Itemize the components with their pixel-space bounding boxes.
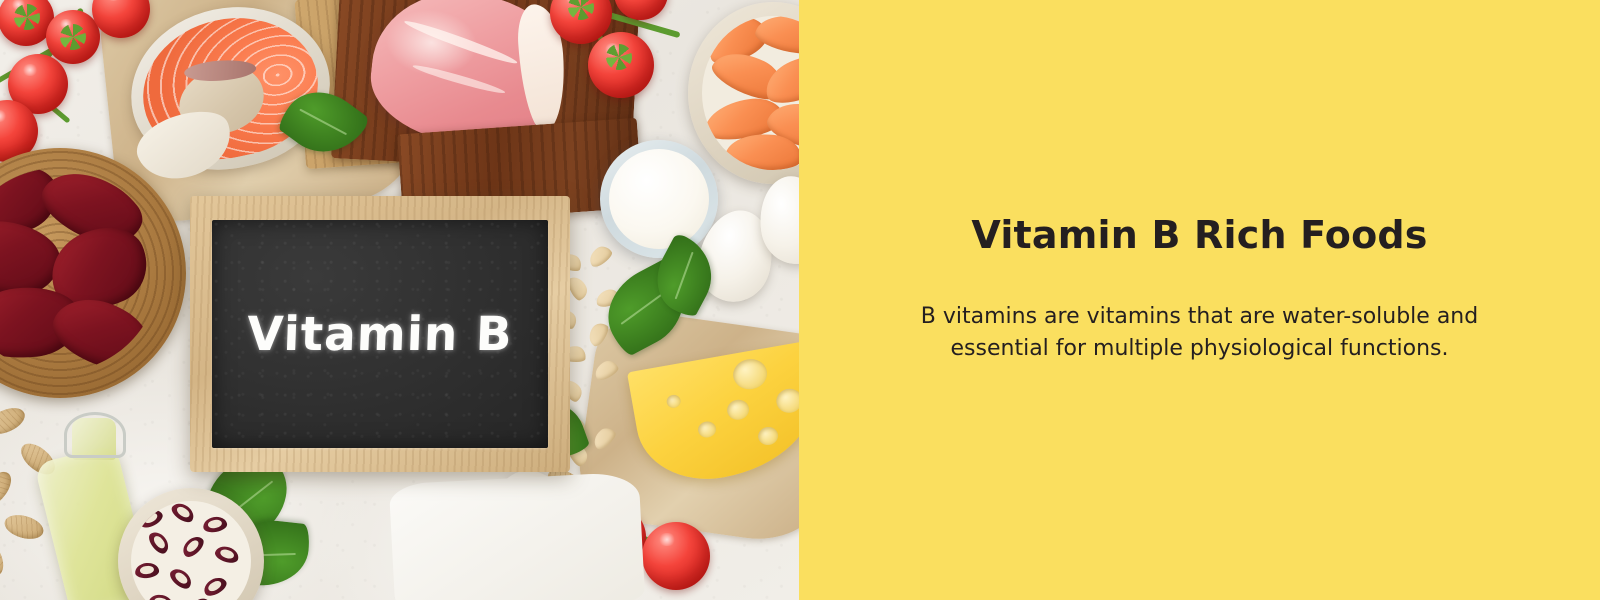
vitamin-b-banner: Vitamin B Vitamin B Rich Foods B vitamin… [0, 0, 1600, 600]
kidney-bean [213, 544, 240, 566]
white-cloth [389, 472, 645, 600]
kidney-bean [169, 501, 197, 525]
cashew-nut [590, 424, 619, 452]
cheese-hole [757, 425, 780, 446]
peanut [0, 466, 17, 511]
swiss-cheese-wedge [636, 356, 799, 476]
cheese-hole [726, 398, 751, 422]
kidney-bean [202, 515, 228, 534]
kidney-bean [179, 533, 207, 560]
leaf-vein [300, 108, 348, 135]
kidney-bean [146, 528, 173, 556]
chalkboard: Vitamin B [190, 196, 570, 472]
chalkboard-text: Vitamin B [246, 307, 513, 362]
page-title: Vitamin B Rich Foods [971, 214, 1427, 257]
text-panel: Vitamin B Rich Foods B vitamins are vita… [799, 0, 1600, 600]
tomato-calyx [60, 24, 86, 50]
leaf-vein [674, 251, 693, 299]
page-subtitle: B vitamins are vitamins that are water-s… [880, 301, 1520, 366]
cheese-hole [731, 356, 770, 391]
tomato-calyx [606, 44, 632, 70]
chalkboard-slate: Vitamin B [212, 220, 548, 448]
cheese-hole [666, 394, 682, 409]
kidney-bean [201, 574, 229, 599]
kidney-bean-bowl-interior [131, 501, 251, 600]
pork-marbling [403, 17, 519, 67]
peanut [0, 403, 29, 439]
cheese-hole [697, 420, 718, 439]
peanut [2, 511, 47, 543]
kidney-bean [148, 593, 175, 600]
food-photograph: Vitamin B [0, 0, 799, 600]
cashew-nut [585, 320, 612, 349]
liver-pile [0, 168, 160, 372]
pork-chop [372, 0, 562, 144]
kidney-bean [167, 565, 195, 592]
cherry-tomato [92, 0, 150, 38]
glass-of-milk [600, 140, 718, 258]
oil-bottle-clip [64, 412, 126, 458]
cherry-tomato [642, 522, 710, 590]
cheese-hole [774, 387, 799, 415]
tomato-calyx [14, 4, 40, 30]
kidney-bean [134, 562, 159, 579]
pork-marbling [412, 62, 506, 96]
shrimp-bowl-interior [702, 16, 799, 170]
cashew-nut [592, 358, 621, 383]
milk-surface [609, 149, 709, 249]
kidney-bean [137, 506, 165, 531]
